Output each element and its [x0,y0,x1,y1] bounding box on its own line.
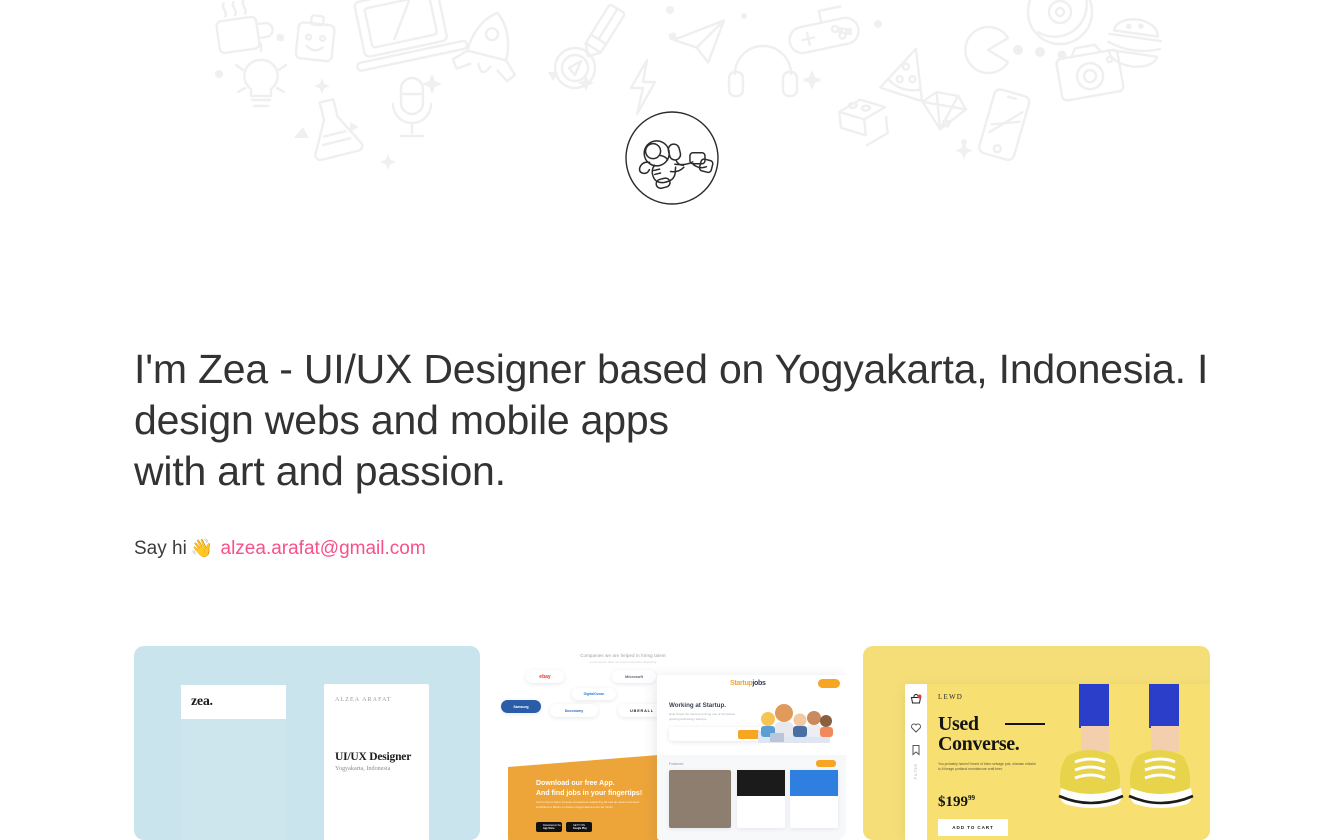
paper-plane-icon [672,21,728,66]
brand-prefix: Startup [730,680,752,687]
cd-icon [1028,0,1092,44]
logo-pill-microsoft: Microsoft [612,670,656,683]
laptop-icon [344,0,468,71]
logo-pill-samsung: Samsung [501,700,541,713]
featured-card-2[interactable] [737,770,785,828]
hero-title: Working at Startup. [669,702,726,709]
headline-word-2: Converse. [938,733,1019,755]
coffee-mug-icon [214,0,275,54]
app-store-button[interactable]: Download on the App Store [536,822,562,832]
promo-line-1: Download our free App. [536,780,615,787]
promo-line-2: And find jobs in your fingertips! [536,790,642,797]
burger-icon [1105,16,1163,70]
price-value: $199 [938,794,968,810]
headphones-icon [729,46,797,96]
logo-pill-ebay: ebay [526,670,564,683]
camera-icon [1054,41,1124,101]
pizza-icon [880,42,937,101]
project-card-startup-jobs[interactable]: Companies we are helped in hiring talent… [500,646,846,840]
project-grid: zea. ALZEA ARAFAT UI/UX Designer Yogyaka… [134,646,1210,840]
diamond-icon [918,90,968,133]
hero-subtitle: Help shape the future by joining one of … [669,712,743,721]
sneakers-photo [1045,684,1210,840]
business-card-back: ALZEA ARAFAT UI/UX Designer Yogyakarta, … [324,684,429,840]
companies-heading: Companies we are helped in hiring talent [508,653,738,658]
compass-icon [555,48,595,88]
add-to-cart-button[interactable]: ADD TO CART [938,819,1008,836]
google-play-button[interactable]: GET IT ON Google Play [566,822,592,832]
rocket-icon [451,5,529,83]
logo-pill-digitalocean: DigitalOcean [572,688,616,700]
card-person-name: ALZEA ARAFAT [335,697,392,703]
product-price: $19999 [938,794,975,811]
product-description: You probably haven't heard of them selva… [938,762,1038,773]
app-promo-title: Download our free App. And find jobs in … [536,779,642,799]
job-search-box[interactable] [669,727,762,741]
portfolio-page: I'm Zea - UI/UX Designer based on Yogyak… [0,0,1344,840]
card-front-body [181,719,286,840]
card-person-location: Yogyakarta, Indonesia [335,765,390,772]
lewd-brand-logo: LEWD [938,693,963,701]
heart-icon[interactable] [910,722,922,734]
business-card-front: zea. [181,685,286,840]
brand-suffix: jobs [752,680,765,687]
companies-subheading: Lorem ipsum dolor sit amet consectetur a… [508,660,738,664]
signup-button[interactable] [818,679,840,688]
project-card-converse-shop[interactable]: FILTER LEWD Used Converse. You probably … [863,646,1210,840]
square-icon [276,28,852,42]
gamepad-icon [785,4,861,56]
logo-pill-doconomy: Doconomy [550,704,598,717]
dot-icon [215,6,967,145]
featured-label: Featured [669,762,683,766]
price-cents: 99 [968,794,975,802]
left-icon-rail: FILTER [905,684,927,840]
headline-word-1: Used [938,713,979,735]
featured-card-1[interactable] [669,770,731,828]
featured-card-3[interactable] [790,770,838,828]
lightbulb-icon [236,44,286,106]
astronaut-logo[interactable] [624,110,720,206]
pacman-icon [965,27,1008,73]
jobs-site-browser-mockup: Startupjobs Working at Startup. Help sha… [657,675,846,840]
microphone-icon [393,78,431,136]
app-store-big: App Store [543,827,554,830]
lego-brick-icon [838,97,889,148]
bookmark-icon[interactable] [910,744,922,756]
lego-head-icon [295,14,335,62]
zea-brand-mark: zea. [191,694,213,710]
project-card-personal-branding[interactable]: zea. ALZEA ARAFAT UI/UX Designer Yogyaka… [134,646,480,840]
card-person-role: UI/UX Designer [335,751,411,763]
app-promo-body: Lorem ipsum dolor sit amet consectetur a… [536,800,651,810]
filter-rail-label[interactable]: FILTER [914,765,918,779]
contact-prefix: Say hi [134,538,187,559]
cart-icon[interactable] [910,694,922,706]
smartphone-icon [978,88,1031,161]
pencil-icon [580,4,625,61]
product-headline: Used Converse. [938,714,1019,754]
headline-rule [1005,723,1045,725]
contact-line: Say hi👋 alzea.arafat@gmail.com [134,535,1210,562]
page-title: I'm Zea - UI/UX Designer based on Yogyak… [134,344,1210,497]
lightning-bolt-icon [631,60,655,114]
dot-icon [1013,45,1067,60]
email-link[interactable]: alzea.arafat@gmail.com [221,538,426,559]
intro-section: I'm Zea - UI/UX Designer based on Yogyak… [134,344,1210,562]
google-play-big: Google Play [573,827,587,830]
team-illustration [750,701,838,745]
featured-see-more-button[interactable] [816,760,836,767]
waving-hand-icon: 👋 [191,538,213,558]
converse-site-mockup: FILTER LEWD Used Converse. You probably … [905,684,1210,840]
startupjobs-logo: Startupjobs [730,680,766,687]
flask-icon [303,95,363,161]
